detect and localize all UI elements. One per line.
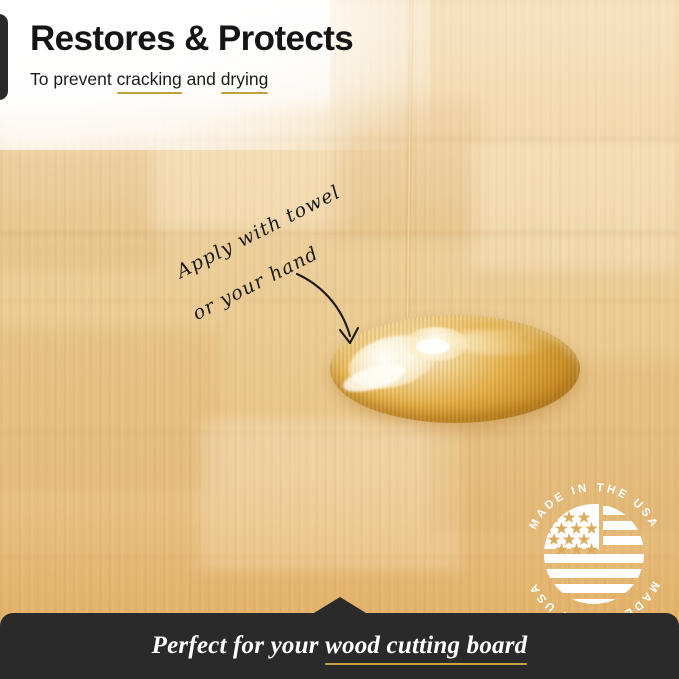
subtitle-middle: and — [182, 69, 221, 89]
bottom-banner: Perfect for your wood cutting board — [0, 613, 679, 679]
left-edge-tab — [0, 14, 8, 100]
page-subtitle: To prevent cracking and drying — [30, 69, 430, 90]
page-title: Restores & Protects — [30, 19, 430, 58]
made-in-usa-badge: MADE IN THE USA MADE IN THE USA — [513, 473, 675, 635]
header-text-group: Restores & Protects To prevent cracking … — [30, 19, 430, 90]
product-infographic: Apply with towel or your hand MADE IN TH… — [0, 0, 679, 679]
banner-text-highlight: wood cutting board — [325, 632, 527, 660]
banner-notch — [314, 597, 366, 613]
subtitle-highlight-drying: drying — [221, 69, 269, 90]
banner-text: Perfect for your wood cutting board — [0, 632, 679, 660]
subtitle-highlight-cracking: cracking — [117, 69, 182, 90]
oil-puddle — [330, 315, 580, 423]
subtitle-prefix: To prevent — [30, 69, 117, 89]
oil-puddle-crown-highlight — [416, 339, 450, 354]
banner-text-prefix: Perfect for your — [152, 632, 326, 659]
